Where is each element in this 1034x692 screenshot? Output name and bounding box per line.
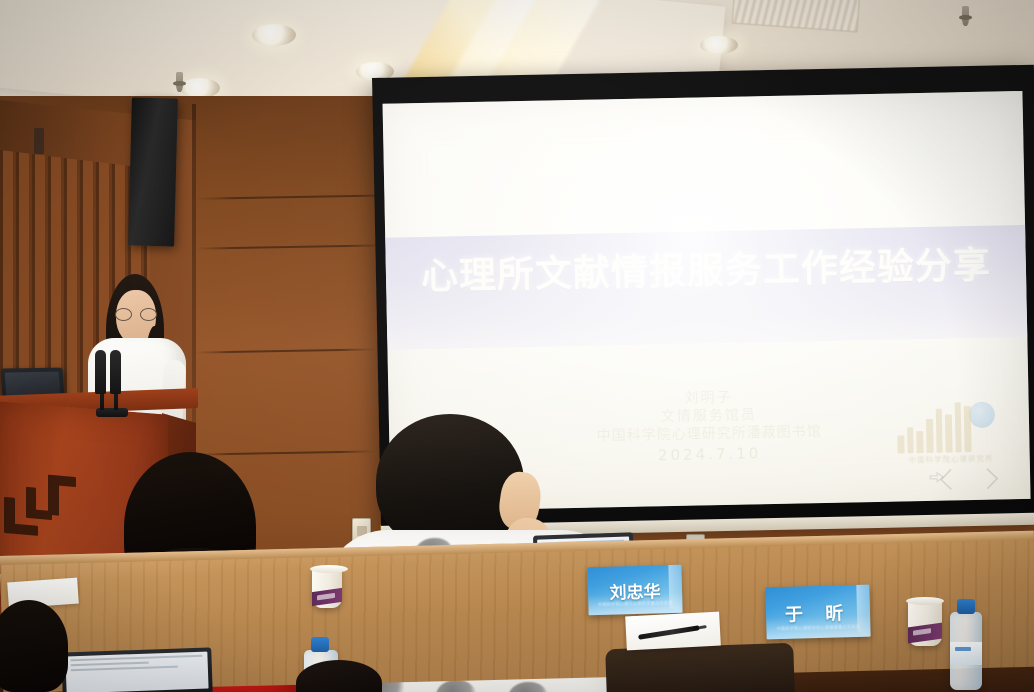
bottle-cap — [311, 637, 329, 652]
sprinkler-head — [962, 6, 969, 26]
attendee-laptop[interactable] — [61, 647, 213, 692]
slide-logo-bar — [945, 414, 952, 452]
slide-logo-bar — [897, 435, 904, 453]
slide-prev-icon[interactable] — [936, 466, 957, 492]
slide-logo-bar — [935, 409, 943, 453]
slide-logo-bar — [907, 427, 914, 453]
slide-logo-bar — [964, 406, 972, 452]
placard-org: 中国科学院心理研究所心理健康重点实验室 — [766, 623, 870, 632]
slide-next-icon[interactable] — [982, 465, 1003, 491]
bottle-cap — [957, 599, 975, 614]
ceiling-downlight — [252, 24, 296, 46]
ceiling-downlight — [180, 78, 220, 98]
podium-emblem-icon — [4, 467, 76, 539]
sprinkler-head — [176, 72, 183, 92]
microphone — [95, 350, 106, 394]
cup-band — [312, 587, 342, 605]
lecture-room-photo: 心理所文献情报服务工作经验分享 刘明子 文情服务馆员 中国科学院心理研究所潘菽图… — [0, 0, 1034, 692]
slide-logo-caption: 中国科学院心理研究所 — [909, 454, 994, 466]
ceiling-downlight — [700, 36, 738, 54]
placard-fold — [856, 585, 871, 637]
slide-logo-bar — [926, 419, 933, 453]
slide-logo-bar — [954, 402, 962, 452]
slide-navigation[interactable] — [936, 465, 1003, 492]
speaker-grille — [34, 128, 44, 154]
presenter-glasses — [115, 308, 157, 319]
slide-logo-barchart-icon — [897, 396, 972, 453]
bottle-label — [950, 642, 982, 665]
slide-logo-bar — [916, 431, 923, 453]
name-placard: 刘忠华 中国科学院心理与认知科学重点实验室 — [587, 565, 682, 615]
paper-cup[interactable] — [312, 568, 342, 608]
chair-backrest — [605, 643, 795, 692]
placard-name: 于 昕 — [766, 598, 871, 627]
ceiling-speaker — [128, 97, 178, 246]
name-placard: 于 昕 中国科学院心理研究所心理健康重点实验室 — [765, 585, 870, 640]
cup-band — [908, 622, 942, 642]
paper-cup[interactable] — [908, 600, 942, 646]
placard-fold — [668, 565, 682, 613]
water-bottle[interactable] — [950, 612, 982, 690]
microphone — [110, 350, 121, 394]
